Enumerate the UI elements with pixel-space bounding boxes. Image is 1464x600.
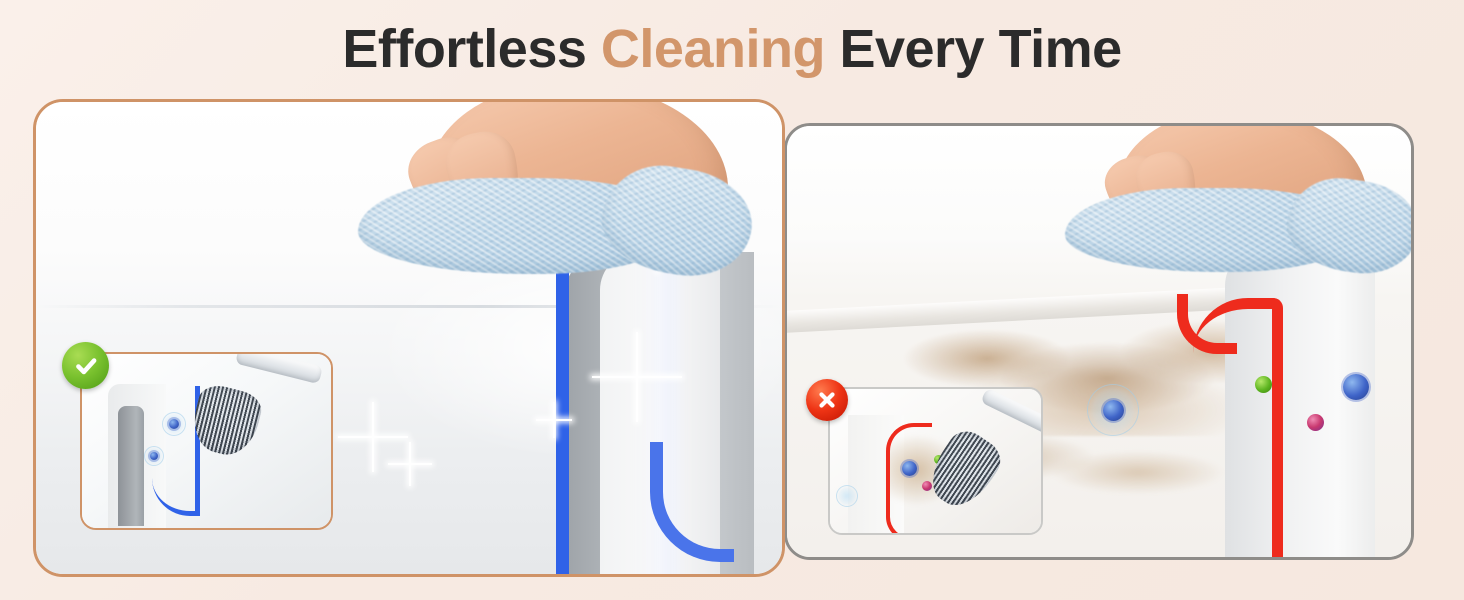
germ-pink-icon — [922, 481, 932, 491]
product-comparison-banner: Effortless Cleaning Every Time — [0, 0, 1464, 600]
x-icon — [806, 379, 848, 421]
inset-contour-line-lower — [886, 501, 932, 535]
rimless-contour-line — [556, 250, 664, 574]
title-part-two: Every Time — [825, 19, 1122, 79]
title-part-one: Effortless — [342, 19, 601, 79]
inset-photo-left — [82, 354, 331, 528]
germ-blue-icon — [150, 452, 158, 460]
page-title: Effortless Cleaning Every Time — [0, 18, 1464, 80]
germ-blue-icon — [1103, 400, 1124, 421]
traditional-rimmed-inset — [828, 387, 1043, 535]
germ-blue-icon — [169, 419, 179, 429]
germ-blue-icon — [902, 461, 917, 476]
germ-blue-icon — [1343, 374, 1369, 400]
germ-green-icon — [1255, 376, 1272, 393]
inset-photo-right — [830, 389, 1041, 533]
germ-halo — [836, 485, 858, 507]
title-accent-word: Cleaning — [601, 19, 825, 79]
germ-pink-icon — [1307, 414, 1324, 431]
inset-bowl-slot — [118, 406, 144, 526]
check-icon — [62, 342, 109, 389]
rimless-design-inset — [80, 352, 333, 530]
